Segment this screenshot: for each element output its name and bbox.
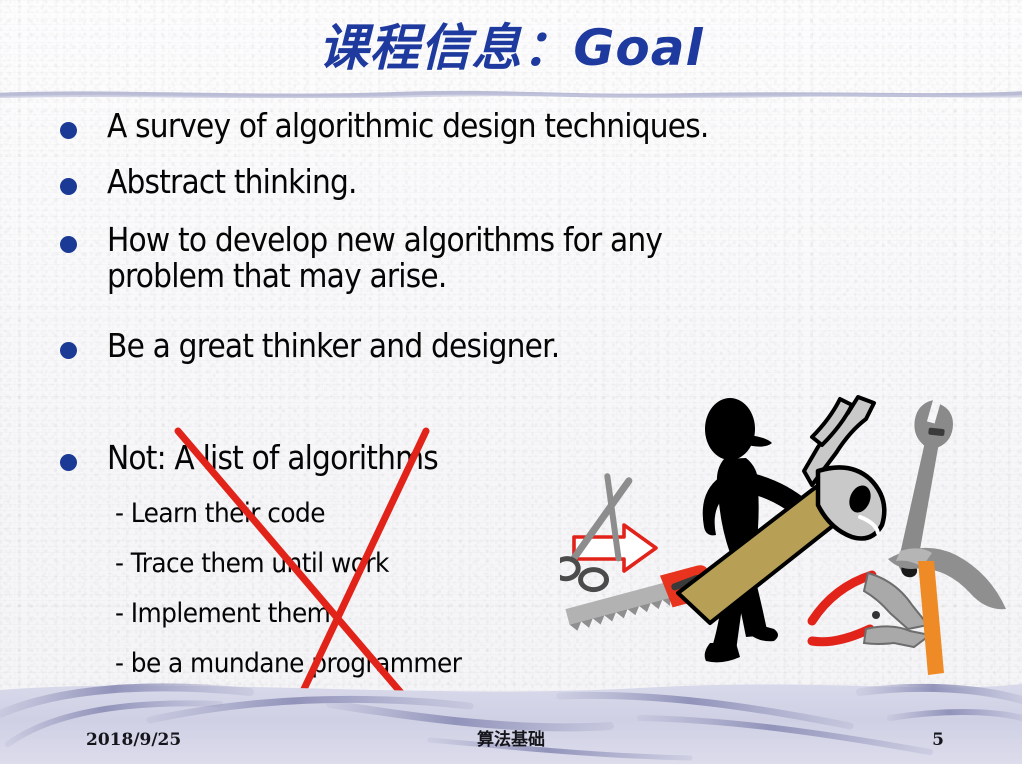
list-item: Be a great thinker and designer.	[60, 328, 610, 364]
page-title: 课程信息：Goal	[0, 8, 1022, 80]
sub-list-item: - Trace them until work	[115, 548, 389, 579]
list-item: Abstract thinking.	[60, 164, 384, 200]
bullet-text: A survey of algorithmic design technique…	[107, 108, 709, 144]
list-item-not: Not: A list of algorithms	[60, 440, 475, 476]
bullet-text: Abstract thinking.	[107, 164, 357, 200]
bullet-text: Be a great thinker and designer.	[107, 328, 559, 364]
bullet-dot-icon	[60, 236, 77, 253]
list-item: A survey of algorithmic design technique…	[60, 108, 775, 144]
sub-list-item: - Learn their code	[115, 498, 325, 529]
slide-footer: 2018/9/25 算法基础 5	[0, 674, 1022, 764]
footer-subject: 算法基础	[0, 725, 1022, 750]
bullet-text: How to develop new algorithms for any pr…	[107, 222, 662, 295]
bullet-dot-icon	[60, 122, 77, 139]
bullet-dot-icon	[60, 342, 77, 359]
list-item: How to develop new algorithms for any pr…	[60, 222, 724, 295]
clipart-svg	[560, 385, 1022, 685]
sub-list-item: - Implement them	[115, 598, 330, 629]
divider-wave-icon	[0, 89, 1022, 98]
footer-page-number: 5	[932, 730, 944, 750]
bullet-text: Not: A list of algorithms	[107, 440, 438, 476]
bullet-dot-icon	[60, 178, 77, 195]
pliers-icon	[812, 573, 930, 647]
slide-canvas: 课程信息：Goal A survey of algorithmic design…	[0, 0, 1022, 764]
slide-header: 课程信息：Goal	[0, 0, 1022, 96]
bullet-dot-icon	[60, 454, 77, 471]
tools-clipart-image	[560, 385, 1022, 685]
footer-decoration	[0, 674, 1022, 764]
title-divider	[0, 86, 1022, 98]
